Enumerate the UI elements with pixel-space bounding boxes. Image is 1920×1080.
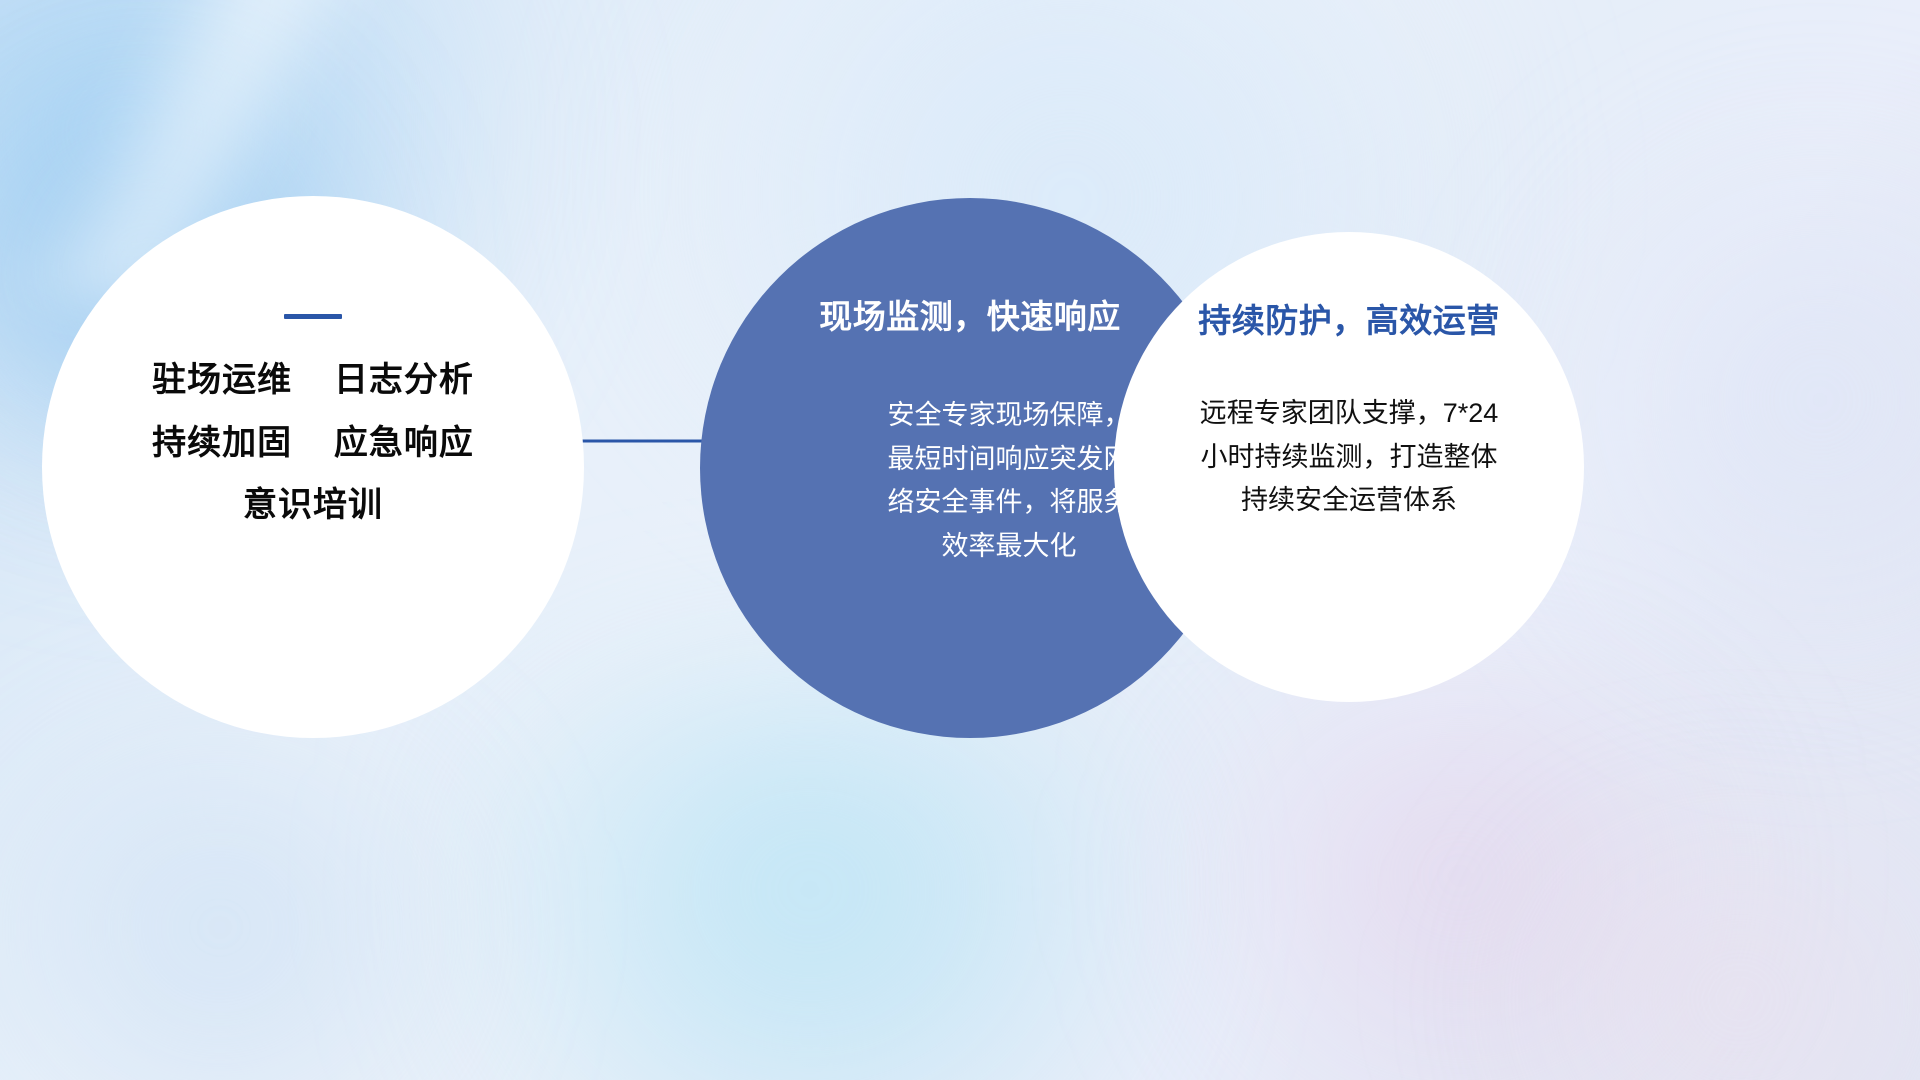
background-glow-bottom-center xyxy=(360,690,1260,1080)
capability-keyword-list: 驻场运维 日志分析 持续加固 应急响应 意识培训 xyxy=(152,363,474,524)
service-circle-right-body: 远程专家团队支撑，7*24 小时持续监测，打造整体 持续安全运营体系 xyxy=(1153,392,1545,523)
capability-keyword-row-1: 驻场运维 日志分析 xyxy=(152,363,474,399)
service-right-body-line-3: 持续安全运营体系 xyxy=(1153,479,1545,523)
service-right-body-line-2: 小时持续监测，打造整体 xyxy=(1153,436,1545,480)
background-glow-corner-right xyxy=(1480,860,1920,1080)
service-right-body-line-1: 远程专家团队支撑，7*24 xyxy=(1153,392,1545,436)
background-glow-bottom-right xyxy=(1150,700,1770,1080)
capability-keyword-row-3: 意识培训 xyxy=(243,488,383,524)
background-glow-bottom-left xyxy=(0,760,500,1080)
background-glow-top-right xyxy=(1540,120,1920,680)
service-circle-right[interactable]: 持续防护，高效运营 远程专家团队支撑，7*24 小时持续监测，打造整体 持续安全… xyxy=(1114,232,1584,702)
slide-canvas: 驻场运维 日志分析 持续加固 应急响应 意识培训 现场监测，快速响应 安全专家现… xyxy=(0,0,1920,1080)
service-circle-right-title: 持续防护，高效运营 xyxy=(1198,294,1500,342)
capability-keyword-row-2: 持续加固 应急响应 xyxy=(152,426,474,462)
capability-circle-left[interactable]: 驻场运维 日志分析 持续加固 应急响应 意识培训 xyxy=(42,196,584,738)
service-middle-body-line-4: 效率最大化 xyxy=(854,525,1164,569)
accent-dash-icon xyxy=(284,314,342,319)
service-circle-middle-title: 现场监测，快速响应 xyxy=(819,290,1121,338)
